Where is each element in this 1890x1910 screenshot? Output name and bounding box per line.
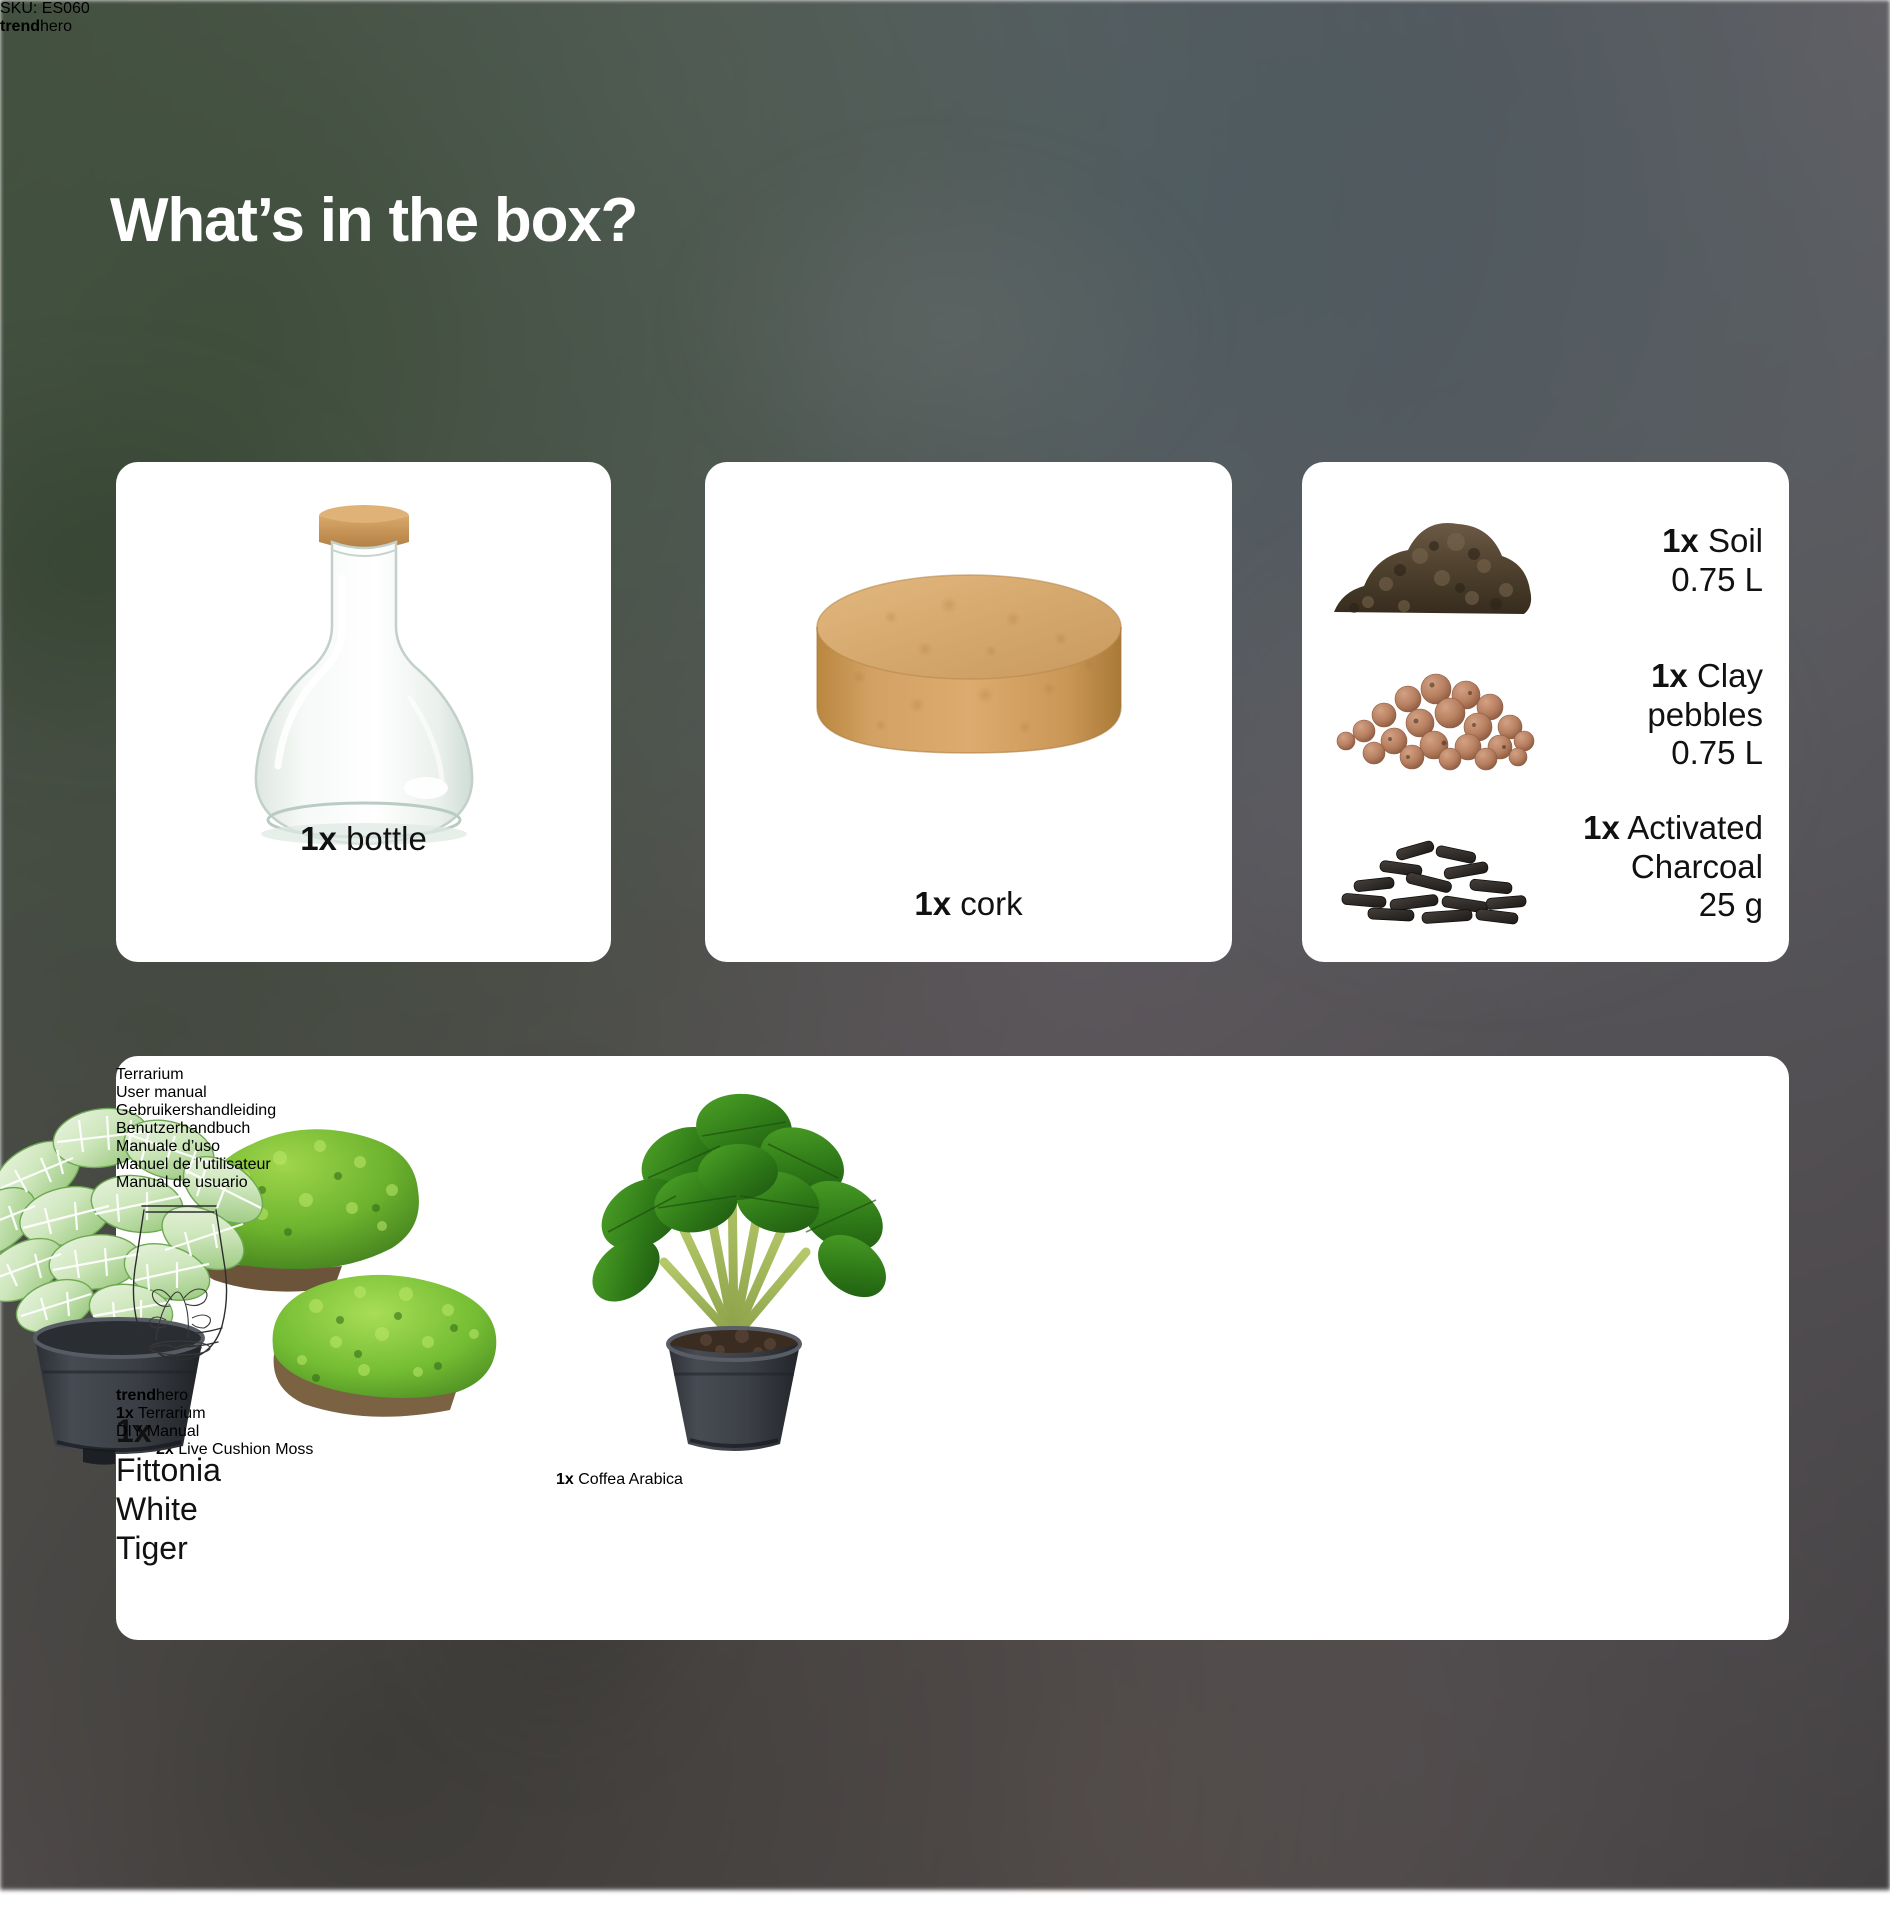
clay-pebbles-icon bbox=[1324, 653, 1539, 778]
booklet-lang-fr: Manuel de l’utilisateur bbox=[116, 1156, 276, 1174]
manual-name-line1: Terrarium bbox=[138, 1405, 206, 1422]
clay-pebbles-qty: 1x bbox=[1651, 657, 1688, 694]
booklet-lang-it: Manuale d’uso bbox=[116, 1138, 276, 1156]
booklet-terrarium-sketch bbox=[116, 1192, 246, 1382]
manual-label: 1x Terrarium DIY Manual bbox=[116, 1405, 276, 1441]
soil-amount: 0.75 L bbox=[1671, 561, 1763, 598]
booklet-logo-bold: trend bbox=[116, 1387, 156, 1404]
booklet-title: Terrarium bbox=[116, 1066, 276, 1084]
manual-name-line2: DIY Manual bbox=[116, 1423, 199, 1440]
manual-qty: 1x bbox=[116, 1405, 134, 1422]
media-item-activated-charcoal: 1x Activated Charcoal 25 g bbox=[1324, 792, 1763, 942]
soil-pile-icon bbox=[1324, 494, 1539, 629]
cork-name: cork bbox=[960, 885, 1022, 922]
brand-logo-light: hero bbox=[40, 18, 72, 35]
bottle-name: bottle bbox=[346, 820, 427, 857]
brand-logo: trendhero bbox=[0, 18, 1890, 36]
booklet-lang-de: Benutzerhandbuch bbox=[116, 1120, 276, 1138]
soil-name: Soil bbox=[1708, 522, 1763, 559]
bottle-qty: 1x bbox=[300, 820, 337, 857]
cork-disc-icon bbox=[799, 557, 1139, 787]
activated-charcoal-amount: 25 g bbox=[1699, 886, 1763, 923]
coffea-arabica-icon bbox=[556, 1066, 916, 1466]
cork-qty: 1x bbox=[914, 885, 951, 922]
brand-logo-bold: trend bbox=[0, 18, 40, 35]
booklet-lang-nl: Gebruikershandleiding bbox=[116, 1102, 276, 1120]
manual-booklet-icon: Terrarium User manual Gebruikershandleid… bbox=[116, 1066, 276, 1405]
activated-charcoal-label: 1x Activated Charcoal 25 g bbox=[1547, 809, 1763, 926]
card-cork: 1x cork bbox=[705, 462, 1232, 962]
soil-qty: 1x bbox=[1662, 522, 1699, 559]
coffea-qty: 1x bbox=[556, 1471, 574, 1488]
glass-bottle-icon bbox=[214, 498, 514, 858]
coffea-label: 1x Coffea Arabica bbox=[556, 1471, 976, 1489]
cork-label: 1x cork bbox=[705, 885, 1232, 923]
media-item-clay-pebbles: 1x Clay pebbles 0.75 L bbox=[1324, 640, 1763, 790]
product-infographic: What’s in the box? bbox=[0, 0, 1890, 1890]
activated-charcoal-qty: 1x bbox=[1583, 809, 1620, 846]
booklet-languages: User manual Gebruikershandleiding Benutz… bbox=[116, 1084, 276, 1192]
plant-item-coffea: 1x Coffea Arabica bbox=[556, 1066, 976, 1626]
media-item-soil: 1x Soil 0.75 L bbox=[1324, 486, 1763, 636]
card-growing-media: 1x Soil 0.75 L bbox=[1302, 462, 1789, 962]
card-bottle: 1x bottle bbox=[116, 462, 611, 962]
activated-charcoal-icon bbox=[1324, 805, 1539, 930]
plant-item-manual: Terrarium User manual Gebruikershandleid… bbox=[116, 1066, 276, 1626]
card-plants-and-manual: 2x Live Cushion Moss bbox=[116, 1056, 1789, 1640]
bottle-label: 1x bottle bbox=[116, 820, 611, 858]
booklet-logo-light: hero bbox=[156, 1387, 188, 1404]
booklet-logo: trendhero bbox=[116, 1387, 276, 1405]
booklet-lang-es: Manual de usuario bbox=[116, 1174, 276, 1192]
activated-charcoal-name: Activated Charcoal bbox=[1627, 809, 1763, 885]
booklet-lang-en: User manual bbox=[116, 1084, 276, 1102]
coffea-name: Coffea Arabica bbox=[578, 1471, 683, 1488]
page-title: What’s in the box? bbox=[110, 185, 637, 256]
clay-pebbles-label: 1x Clay pebbles 0.75 L bbox=[1547, 657, 1763, 774]
clay-pebbles-amount: 0.75 L bbox=[1671, 734, 1763, 771]
soil-label: 1x Soil 0.75 L bbox=[1547, 522, 1763, 600]
sku-text: SKU: ES060 bbox=[0, 0, 1890, 18]
